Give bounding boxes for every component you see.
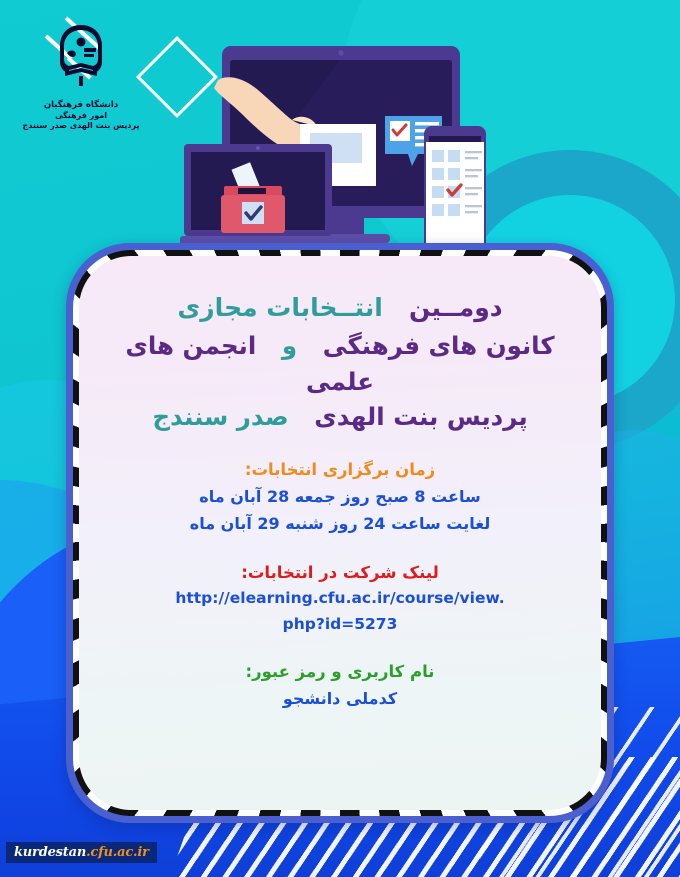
online-voting-illustration (180, 38, 500, 263)
logo-line-1: دانشگاه فرهنگیان (22, 100, 140, 111)
title-line1-part-b: انتــخابات مجازی (177, 293, 382, 322)
poster-title-line-1: دومــین انتــخابات مجازی (177, 290, 502, 326)
title-line2-part-b: و (282, 331, 297, 360)
poster-title-line-3: پردیس بنت الهدی صدر سنندج (152, 399, 527, 435)
card-dashed-border: دومــین انتــخابات مجازی کانون های فرهنگ… (73, 250, 607, 816)
site-watermark: kurdestan.cfu.ac.ir (6, 842, 157, 863)
logo-line-3: پردیس بنت الهدی صدر سنندج (22, 121, 140, 131)
election-link-url-line-1[interactable]: http://elearning.cfu.ac.ir/course/view. (175, 586, 504, 612)
title-line3-part-b: صدر سنندج (152, 402, 288, 431)
university-logo: دانشگاه فرهنگیان امور فرهنگی پردیس بنت ا… (22, 22, 140, 131)
credentials-heading: نام کاربری و رمز عبور: (245, 659, 434, 685)
logo-line-2: امور فرهنگی (22, 111, 140, 121)
university-emblem-icon (48, 22, 114, 94)
announcement-card: دومــین انتــخابات مجازی کانون های فرهنگ… (66, 243, 614, 823)
election-time-heading: زمان برگزاری انتخابات: (190, 457, 491, 483)
election-link-url-line-2[interactable]: php?id=5273 (175, 612, 504, 638)
credentials-value: کدملی دانشجو (245, 685, 434, 712)
watermark-part-2: .cfu.ac.ir (86, 845, 149, 860)
election-time-block: زمان برگزاری انتخابات: ساعت 8 صبح روز جم… (190, 457, 491, 538)
watermark-part-1: kurdestan (14, 845, 86, 860)
election-time-line-2: لغایت ساعت 24 روز شنبه 29 آبان ماه (190, 510, 491, 537)
poster-title-line-2: کانون های فرهنگی و انجمن های علمی (105, 328, 575, 399)
election-time-line-1: ساعت 8 صبح روز جمعه 28 آبان ماه (190, 483, 491, 510)
card-content: دومــین انتــخابات مجازی کانون های فرهنگ… (79, 256, 601, 810)
smartphone-checklist (424, 126, 486, 250)
title-line1-part-a: دومــین (409, 293, 503, 322)
election-link-block: لینک شرکت در انتخابات: http://elearning.… (175, 560, 504, 638)
credentials-block: نام کاربری و رمز عبور: کدملی دانشجو (245, 659, 434, 713)
title-line3-part-a: پردیس بنت الهدی (314, 402, 527, 431)
title-line2-part-a: کانون های فرهنگی (323, 331, 555, 360)
poster-canvas: دانشگاه فرهنگیان امور فرهنگی پردیس بنت ا… (0, 0, 680, 877)
election-link-heading: لینک شرکت در انتخابات: (175, 560, 504, 586)
